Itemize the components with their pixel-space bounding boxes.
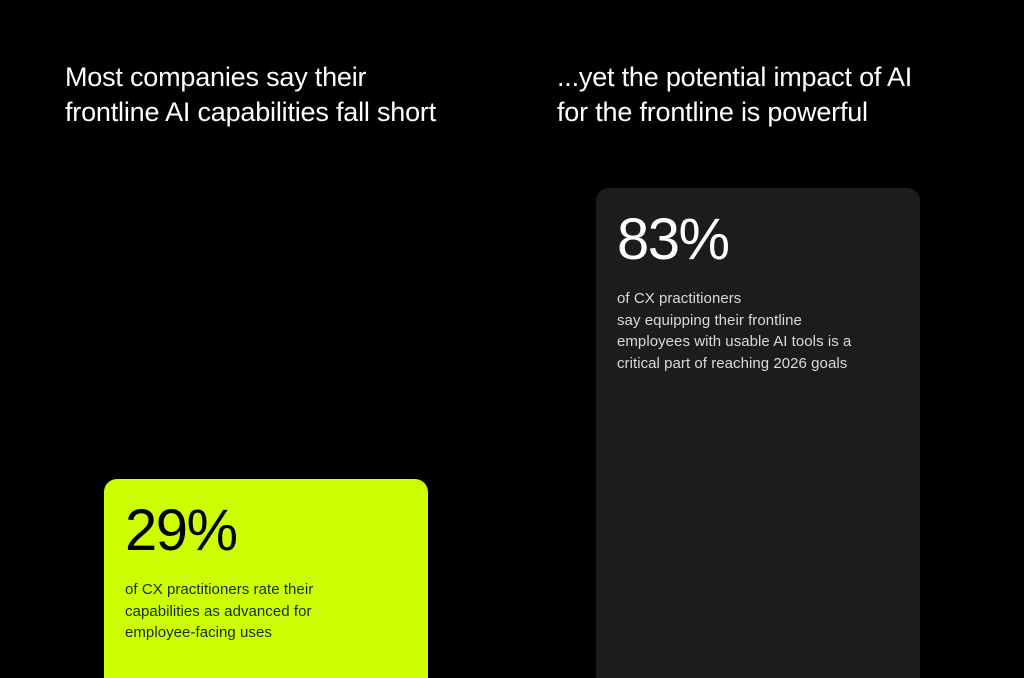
stat-card-83-percent: 83% of CX practitioners say equipping th… xyxy=(596,188,920,678)
infographic-canvas: Most companies say their frontline AI ca… xyxy=(0,0,1024,678)
stat-value-83: 83% xyxy=(617,210,899,270)
stat-value-29: 29% xyxy=(125,501,407,561)
headline-right: ...yet the potential impact of AI for th… xyxy=(557,60,967,130)
stat-description-29: of CX practitioners rate their capabilit… xyxy=(125,579,407,644)
stat-card-29-percent: 29% of CX practitioners rate their capab… xyxy=(104,479,428,678)
headline-left: Most companies say their frontline AI ca… xyxy=(65,60,495,130)
stat-description-83: of CX practitioners say equipping their … xyxy=(617,288,899,374)
